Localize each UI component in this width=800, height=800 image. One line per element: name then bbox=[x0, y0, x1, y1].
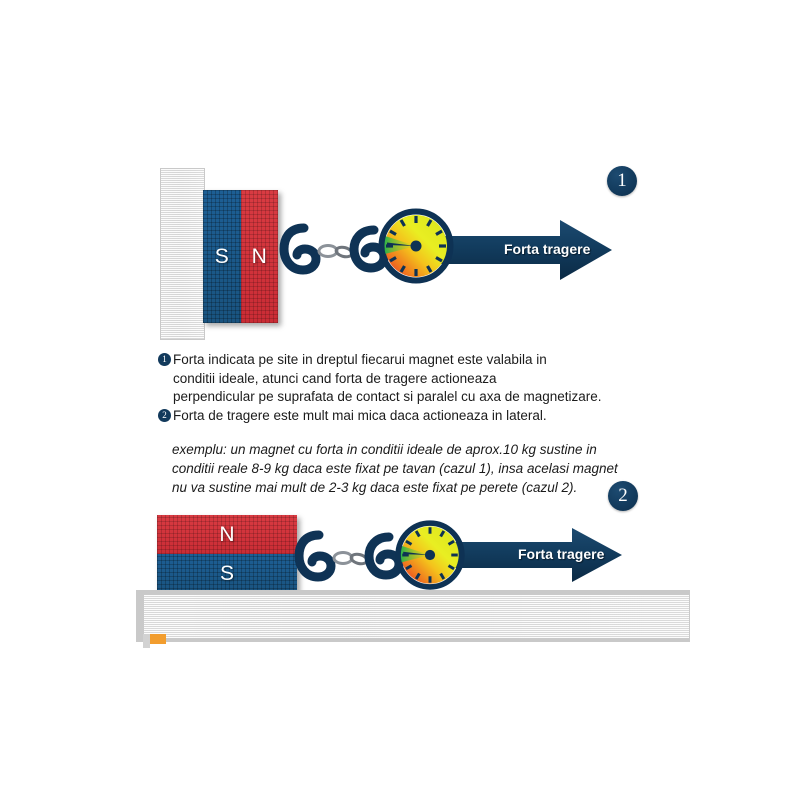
case-badge-one: 1 bbox=[607, 166, 637, 196]
surface-plate-horizontal bbox=[143, 594, 690, 639]
pole-label-s: S bbox=[215, 246, 229, 267]
hook-left-icon bbox=[299, 535, 331, 577]
note-line: perpendicular pe suprafata de contact si… bbox=[173, 389, 602, 404]
magnet-pole-north: N bbox=[241, 190, 279, 323]
notes-list: 1 Forta indicata pe site in dreptul fiec… bbox=[158, 351, 608, 425]
chain-icon bbox=[319, 246, 353, 259]
magnet-pole-south: S bbox=[157, 554, 297, 593]
pole-label-s: S bbox=[220, 563, 234, 584]
note-item-1: 1 Forta indicata pe site in dreptul fiec… bbox=[158, 351, 608, 407]
force-arrow-label-case-one: Forta tragere bbox=[504, 241, 590, 257]
note-text-2: Forta de tragere este mult mai mica daca… bbox=[173, 407, 608, 426]
note-line: conditii ideale, atunci cand forta de tr… bbox=[173, 371, 496, 386]
magnet-case-one: S N bbox=[203, 190, 278, 323]
case-badge-two-label: 2 bbox=[618, 485, 628, 507]
magnet-pole-south: S bbox=[203, 190, 241, 323]
case-badge-one-label: 1 bbox=[617, 170, 627, 192]
pole-label-n: N bbox=[219, 524, 234, 545]
surface-plate-corner-marker bbox=[150, 634, 166, 644]
note-item-2: 2 Forta de tragere este mult mai mica da… bbox=[158, 407, 608, 426]
force-arrow-case-two: Forta tragere bbox=[452, 526, 622, 584]
note-line: Forta de tragere este mult mai mica daca… bbox=[173, 408, 547, 423]
force-arrow-label-case-two: Forta tragere bbox=[518, 546, 604, 562]
force-gauge-case-two bbox=[393, 518, 467, 592]
magnet-case-two: N S bbox=[157, 515, 297, 593]
example-line: exemplu: un magnet cu forta in conditii … bbox=[172, 442, 597, 457]
note-text-1: Forta indicata pe site in dreptul fiecar… bbox=[173, 351, 608, 407]
example-line: nu va sustine mai mult de 2-3 kg daca es… bbox=[172, 480, 577, 495]
note-line: Forta indicata pe site in dreptul fiecar… bbox=[173, 352, 547, 367]
hook-left-icon bbox=[284, 228, 316, 270]
diagram-canvas: S N bbox=[0, 0, 800, 800]
force-arrow-case-one: Forta tragere bbox=[432, 218, 612, 282]
example-paragraph: exemplu: un magnet cu forta in conditii … bbox=[172, 440, 622, 497]
hook-chain-assembly-case-two bbox=[297, 525, 407, 587]
magnet-pole-north: N bbox=[157, 515, 297, 554]
case-badge-two: 2 bbox=[608, 481, 638, 511]
force-gauge-case-one bbox=[376, 206, 456, 286]
chain-icon bbox=[334, 553, 368, 566]
note-bullet-1: 1 bbox=[158, 353, 171, 366]
note-bullet-2: 2 bbox=[158, 409, 171, 422]
surface-plate-corner-shadow bbox=[143, 634, 150, 648]
wall-panel-vertical bbox=[160, 168, 205, 340]
pole-label-n: N bbox=[252, 246, 267, 267]
example-line: conditii reale 8-9 kg daca este fixat pe… bbox=[172, 461, 618, 476]
